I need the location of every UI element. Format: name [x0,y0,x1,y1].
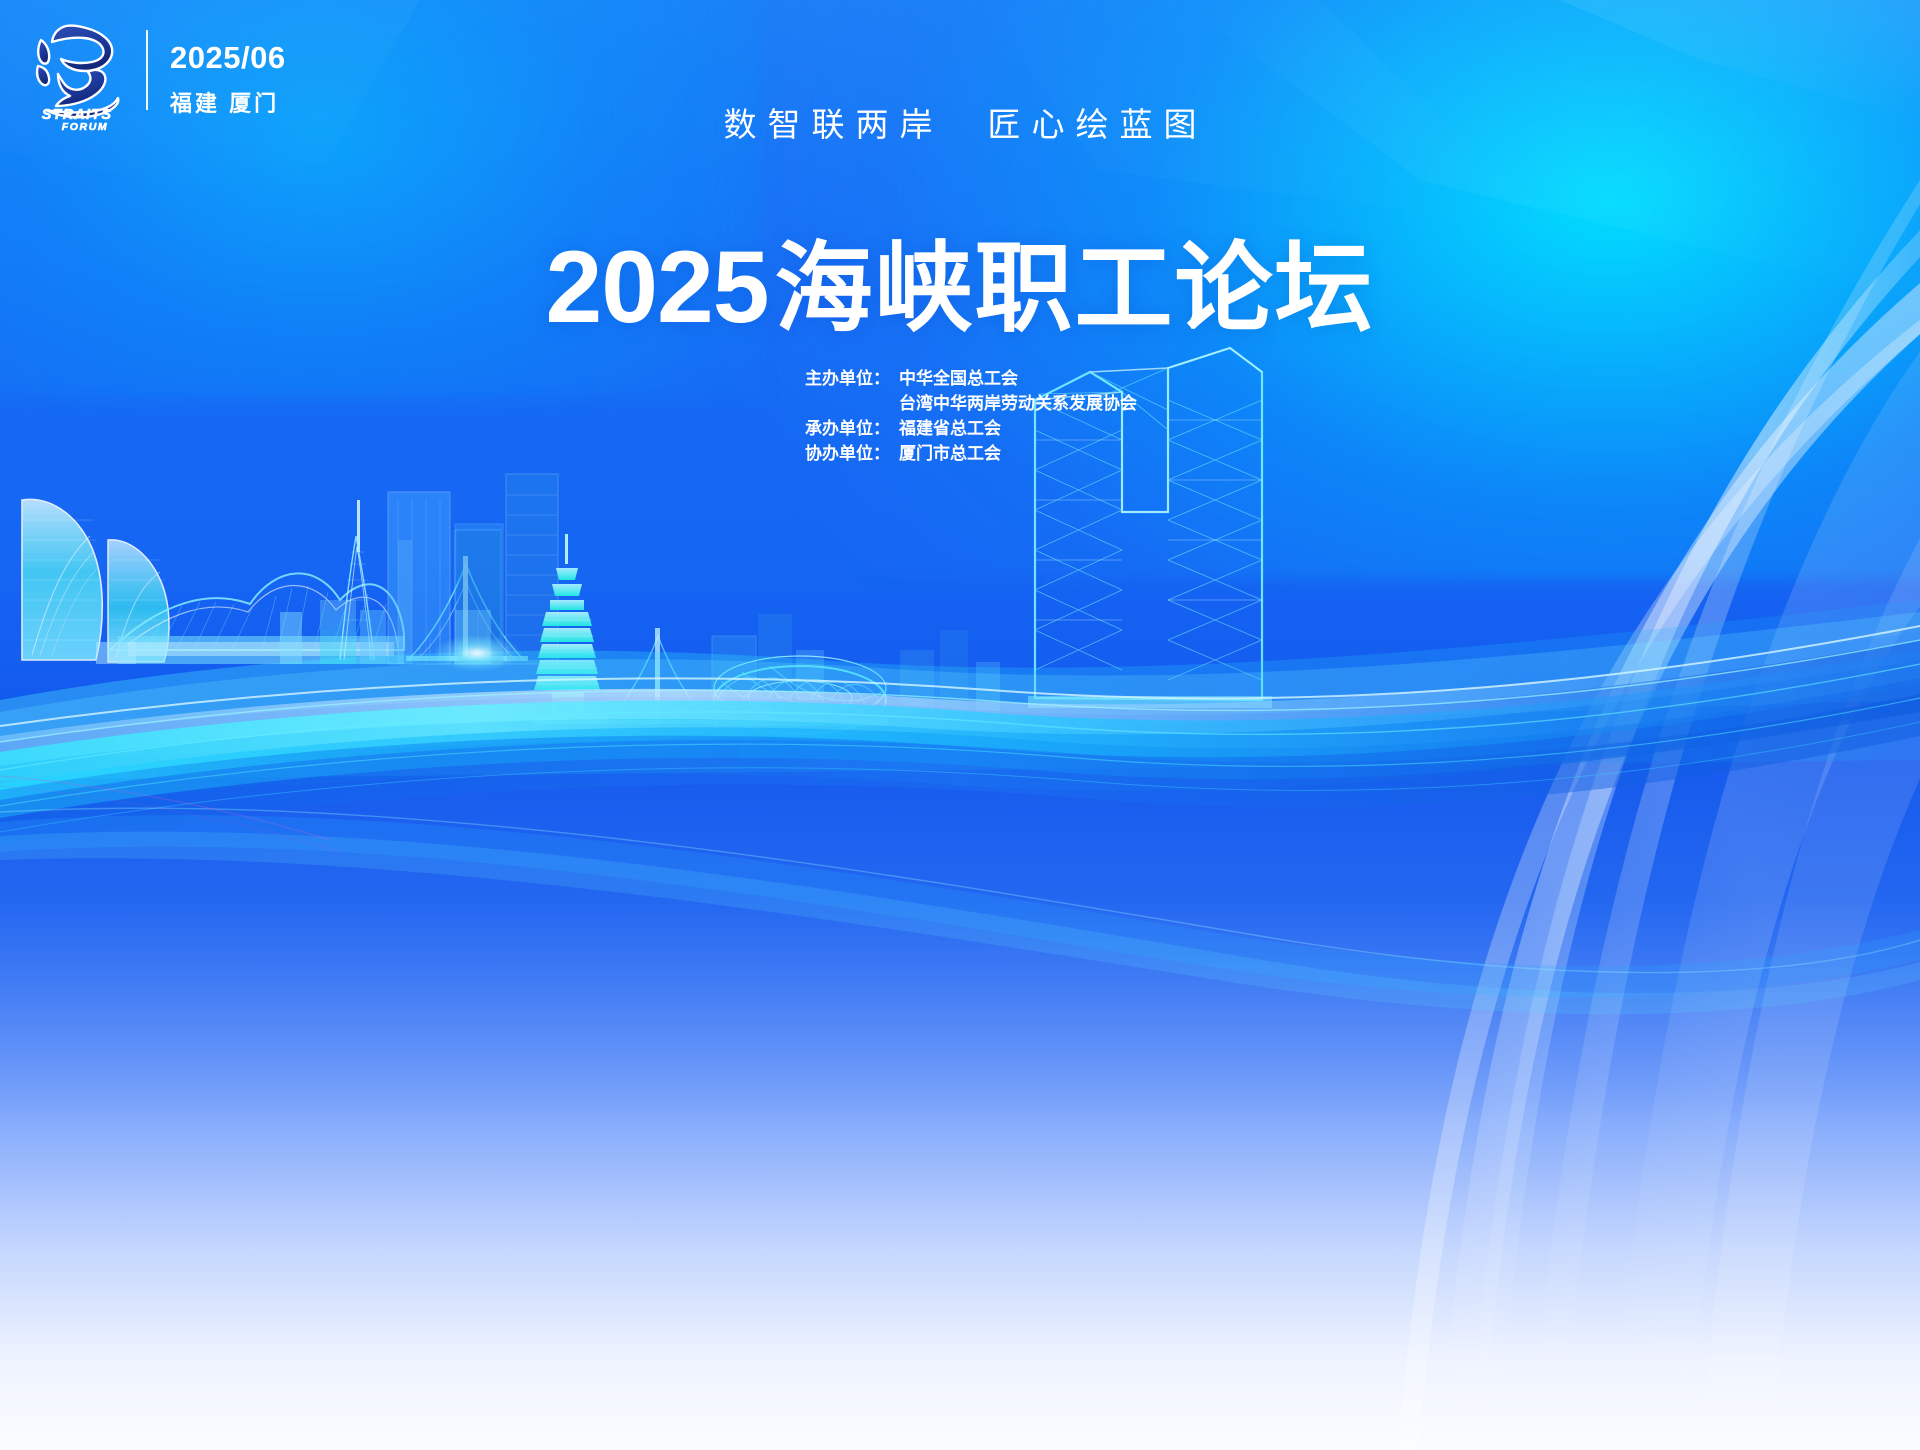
poster-canvas: STRAITS FORUM 2025/06 福建 厦门 数智联两岸匠心绘蓝图 2… [0,0,1920,1450]
title-text: 海峡职工论坛 [774,233,1374,343]
organizer-label-organiser: 承办单位： [805,416,899,441]
slogan-left: 数智联两岸 [724,106,944,143]
skyline-glow-highlight [432,635,522,671]
organizer-label-co-organiser: 协办单位： [805,441,899,466]
event-slogan: 数智联两岸匠心绘蓝图 [0,98,1920,146]
organizer-value-host: 中华全国总工会 [899,369,1018,388]
slogan-right: 匠心绘蓝图 [988,106,1208,143]
organizer-label-host: 主办单位： [805,366,899,391]
background-facet-sheen [0,0,1920,1450]
organizer-row-host: 主办单位：中华全国总工会 [805,366,1137,391]
organizer-row-co-organiser: 协办单位：厦门市总工会 [805,441,1137,466]
organizer-row-host-2: 台湾中华两岸劳动关系发展协会 [805,391,1137,416]
logo-date: 2025/06 [170,40,286,76]
page-title: 2025海峡职工论坛 [0,234,1920,341]
organizer-value-host-2: 台湾中华两岸劳动关系发展协会 [805,391,1137,416]
title-year: 2025 [546,230,775,344]
organizer-value-co-organiser: 厦门市总工会 [899,444,1001,463]
organizer-row-organiser: 承办单位：福建省总工会 [805,416,1137,441]
organizers-block: 主办单位：中华全国总工会 台湾中华两岸劳动关系发展协会 承办单位：福建省总工会 … [805,366,1137,466]
organizer-value-organiser: 福建省总工会 [899,419,1001,438]
